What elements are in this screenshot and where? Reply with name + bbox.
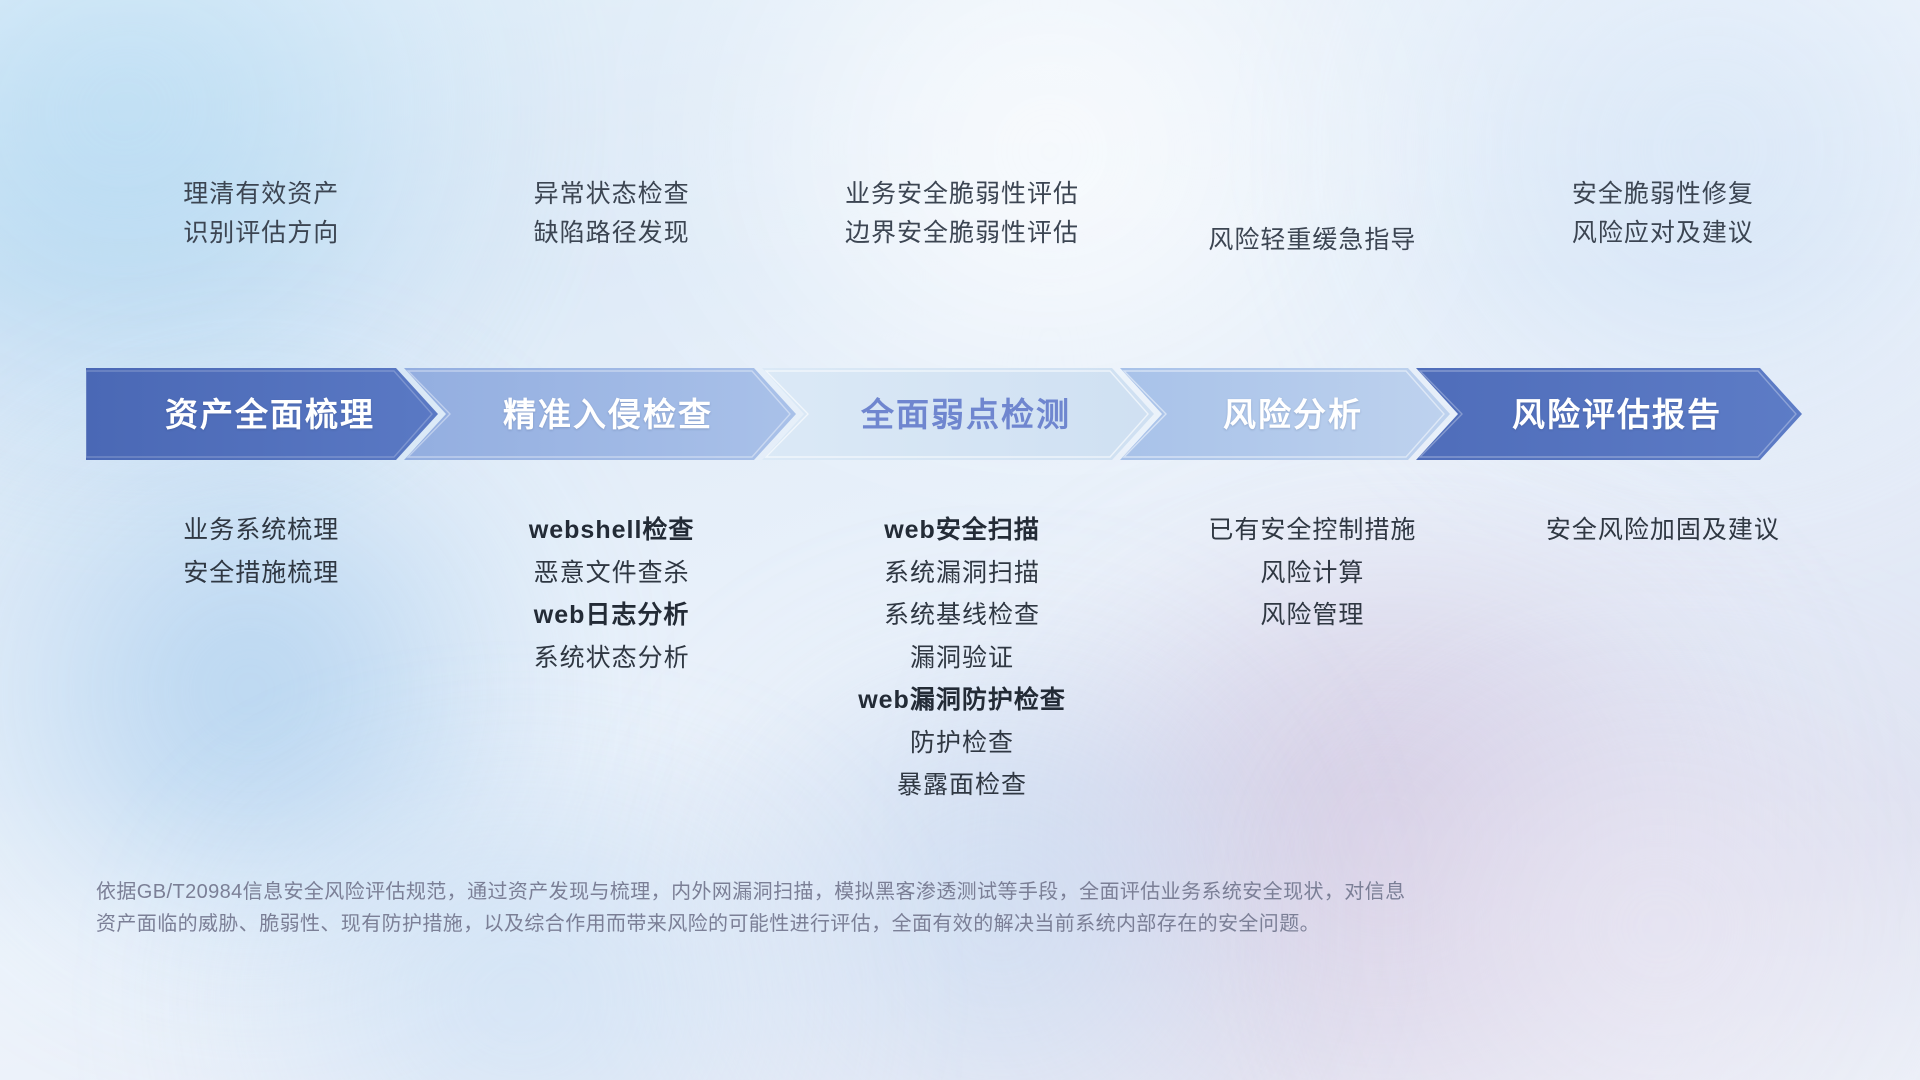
stage-note: 异常状态检查 xyxy=(534,182,690,207)
stage-note: 识别评估方向 xyxy=(183,221,339,246)
process-diagram: 理清有效资产 识别评估方向 异常状态检查 缺陷路径发现 业务安全脆弱性评估 边界… xyxy=(0,0,1920,1080)
list-item: 已有安全控制措施 xyxy=(1208,517,1416,545)
chevron-stage-risk-report[interactable]: 风险评估报告 xyxy=(1416,368,1802,460)
stage-notes-weakness-detection: 业务安全脆弱性评估 边界安全脆弱性评估 xyxy=(787,182,1137,292)
stage-notes-asset-inventory: 理清有效资产 识别评估方向 xyxy=(86,182,436,292)
list-item: 风险计算 xyxy=(1260,560,1364,588)
list-item: 系统漏洞扫描 xyxy=(884,560,1040,588)
footer-line-1: 依据GB/T20984信息安全风险评估规范，通过资产发现与梳理，内外网漏洞扫描，… xyxy=(96,876,1596,908)
stage-items-row: 业务系统梳理 安全措施梳理 webshell检查 恶意文件查杀 web日志分析 … xyxy=(86,505,1838,835)
list-item: web漏洞防护检查 xyxy=(858,687,1066,715)
list-item: 业务系统梳理 xyxy=(183,517,339,545)
list-item: 暴露面检查 xyxy=(897,772,1027,800)
stage-note: 理清有效资产 xyxy=(183,182,339,207)
list-item: 恶意文件查杀 xyxy=(534,560,690,588)
stage-note: 缺陷路径发现 xyxy=(534,221,690,246)
footer-line-2: 资产面临的威胁、脆弱性、现有防护措施，以及综合作用而带来风险的可能性进行评估，全… xyxy=(96,908,1596,940)
stage-notes-intrusion-check: 异常状态检查 缺陷路径发现 xyxy=(436,182,786,292)
stage-items-asset-inventory: 业务系统梳理 安全措施梳理 xyxy=(86,505,436,835)
list-item: 系统基线检查 xyxy=(884,602,1040,630)
list-item: 防护检查 xyxy=(910,730,1014,758)
chevron-label: 资产全面梳理 xyxy=(165,398,375,431)
stage-notes-row: 理清有效资产 识别评估方向 异常状态检查 缺陷路径发现 业务安全脆弱性评估 边界… xyxy=(86,182,1838,292)
list-item: 漏洞验证 xyxy=(910,645,1014,673)
stage-notes-risk-report: 安全脆弱性修复 风险应对及建议 xyxy=(1488,182,1838,292)
stage-notes-risk-analysis: 风险轻重缓急指导 xyxy=(1137,182,1487,292)
footer-description: 依据GB/T20984信息安全风险评估规范，通过资产发现与梳理，内外网漏洞扫描，… xyxy=(96,876,1596,941)
list-item: 系统状态分析 xyxy=(534,645,690,673)
stage-note: 边界安全脆弱性评估 xyxy=(845,221,1079,246)
list-item: webshell检查 xyxy=(529,517,695,545)
stage-note: 业务安全脆弱性评估 xyxy=(845,182,1079,207)
stage-items-risk-report: 安全风险加固及建议 xyxy=(1488,505,1838,835)
chevron-stage-risk-analysis[interactable]: 风险分析 xyxy=(1120,368,1450,460)
stage-items-weakness-detection: web安全扫描 系统漏洞扫描 系统基线检查 漏洞验证 web漏洞防护检查 防护检… xyxy=(787,505,1137,835)
list-item: web安全扫描 xyxy=(884,517,1040,545)
stage-note: 风险轻重缓急指导 xyxy=(1208,228,1416,253)
process-chevron-bar: 资产全面梳理 精准入侵检查 xyxy=(86,368,1838,460)
stage-note: 风险应对及建议 xyxy=(1572,221,1754,246)
list-item: 安全措施梳理 xyxy=(183,560,339,588)
chevron-label: 全面弱点检测 xyxy=(861,398,1071,431)
list-item: 风险管理 xyxy=(1260,602,1364,630)
list-item: 安全风险加固及建议 xyxy=(1546,517,1780,545)
chevron-stage-weakness-detection[interactable]: 全面弱点检测 xyxy=(762,368,1154,460)
chevron-stage-asset-inventory[interactable]: 资产全面梳理 xyxy=(86,368,438,460)
stage-items-risk-analysis: 已有安全控制措施 风险计算 风险管理 xyxy=(1137,505,1487,835)
list-item: web日志分析 xyxy=(534,602,690,630)
stage-note: 安全脆弱性修复 xyxy=(1572,182,1754,207)
stage-items-intrusion-check: webshell检查 恶意文件查杀 web日志分析 系统状态分析 xyxy=(436,505,786,835)
chevron-label: 精准入侵检查 xyxy=(503,398,713,431)
chevron-label: 风险评估报告 xyxy=(1512,398,1722,431)
chevron-label: 风险分析 xyxy=(1223,398,1363,431)
chevron-stage-intrusion-check[interactable]: 精准入侵检查 xyxy=(404,368,796,460)
